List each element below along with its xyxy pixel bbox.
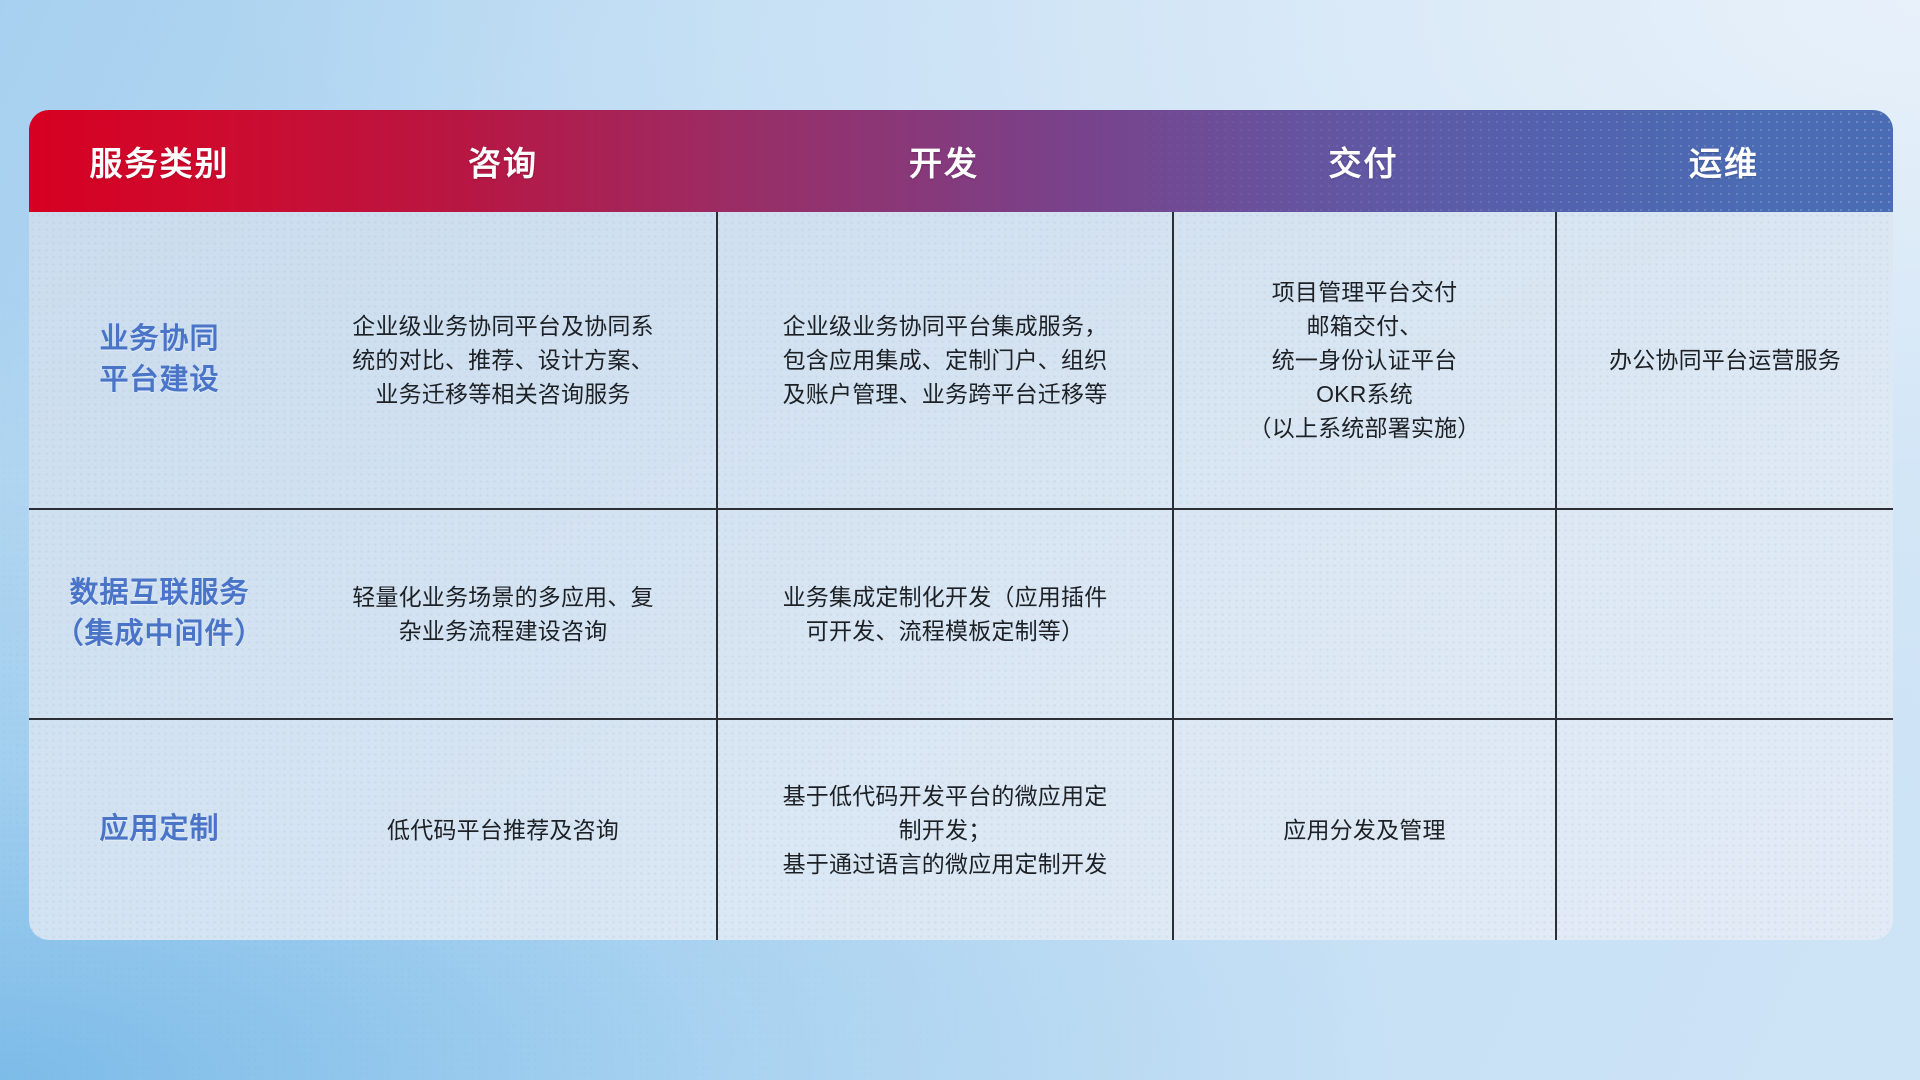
text-line: 邮箱交付、 <box>1249 309 1481 343</box>
cell-delivery <box>1172 510 1555 718</box>
category-line: （集成中间件） <box>54 614 264 655</box>
cell-operations <box>1555 720 1893 940</box>
text-line: 业务集成定制化开发（应用插件 <box>783 580 1108 614</box>
text-line: 企业级业务协同平台集成服务， <box>783 309 1108 343</box>
cell-operations: 办公协同平台运营服务 <box>1555 212 1893 508</box>
cell-delivery: 应用分发及管理 <box>1172 720 1555 940</box>
text-line: 企业级业务协同平台及协同系 <box>352 309 654 343</box>
row-category-label: 业务协同 平台建设 <box>99 319 219 401</box>
text-line: 应用分发及管理 <box>1283 813 1445 847</box>
service-matrix-table: 服务类别 咨询 开发 交付 运维 业务协同 平台建设 企业级业务协同平台及协同系… <box>29 110 1893 940</box>
cell-text: 办公协同平台运营服务 <box>1609 343 1841 377</box>
cell-text: 企业级业务协同平台集成服务， 包含应用集成、定制门户、组织 及账户管理、业务跨平… <box>783 309 1108 411</box>
cell-development: 基于低代码开发平台的微应用定 制开发； 基于通过语言的微应用定制开发 <box>716 720 1172 940</box>
text-line: 杂业务流程建设咨询 <box>352 614 654 648</box>
table-row: 数据互联服务 （集成中间件） 轻量化业务场景的多应用、复 杂业务流程建设咨询 业… <box>29 508 1893 718</box>
cell-consulting: 轻量化业务场景的多应用、复 杂业务流程建设咨询 <box>290 510 716 718</box>
text-line: 基于低代码开发平台的微应用定 <box>783 779 1108 813</box>
cell-delivery: 项目管理平台交付 邮箱交付、 统一身份认证平台 OKR系统 （以上系统部署实施） <box>1172 212 1555 508</box>
row-category-cell: 数据互联服务 （集成中间件） <box>29 510 290 718</box>
column-header-delivery: 交付 <box>1172 137 1555 185</box>
cell-text: 应用分发及管理 <box>1283 813 1445 847</box>
cell-development: 业务集成定制化开发（应用插件 可开发、流程模板定制等） <box>716 510 1172 718</box>
text-line: 项目管理平台交付 <box>1249 275 1481 309</box>
category-line: 数据互联服务 <box>54 573 264 614</box>
text-line: 可开发、流程模板定制等） <box>783 614 1108 648</box>
category-line: 平台建设 <box>99 360 219 401</box>
row-category-label: 数据互联服务 （集成中间件） <box>54 573 264 655</box>
text-line: 办公协同平台运营服务 <box>1609 343 1841 377</box>
table-row: 业务协同 平台建设 企业级业务协同平台及协同系 统的对比、推荐、设计方案、 业务… <box>29 212 1893 508</box>
cell-text: 项目管理平台交付 邮箱交付、 统一身份认证平台 OKR系统 （以上系统部署实施） <box>1249 275 1481 445</box>
column-header-consulting: 咨询 <box>290 137 716 185</box>
category-line: 业务协同 <box>99 319 219 360</box>
table-row: 应用定制 低代码平台推荐及咨询 基于低代码开发平台的微应用定 制开发； 基于通过… <box>29 718 1893 940</box>
column-header-operations: 运维 <box>1555 137 1893 185</box>
text-line: 统一身份认证平台 <box>1249 343 1481 377</box>
text-line: 及账户管理、业务跨平台迁移等 <box>783 377 1108 411</box>
row-category-cell: 业务协同 平台建设 <box>29 212 290 508</box>
text-line: 轻量化业务场景的多应用、复 <box>352 580 654 614</box>
cell-text: 低代码平台推荐及咨询 <box>387 813 619 847</box>
text-line: 低代码平台推荐及咨询 <box>387 813 619 847</box>
cell-text: 企业级业务协同平台及协同系 统的对比、推荐、设计方案、 业务迁移等相关咨询服务 <box>352 309 654 411</box>
text-line: 制开发； <box>783 813 1108 847</box>
cell-text: 基于低代码开发平台的微应用定 制开发； 基于通过语言的微应用定制开发 <box>783 779 1108 881</box>
table-body: 业务协同 平台建设 企业级业务协同平台及协同系 统的对比、推荐、设计方案、 业务… <box>29 212 1893 940</box>
category-line: 应用定制 <box>99 809 219 850</box>
column-header-development: 开发 <box>716 137 1172 185</box>
column-header-category: 服务类别 <box>29 137 290 185</box>
text-line: 包含应用集成、定制门户、组织 <box>783 343 1108 377</box>
cell-operations <box>1555 510 1893 718</box>
row-category-label: 应用定制 <box>99 809 219 850</box>
row-category-cell: 应用定制 <box>29 720 290 940</box>
cell-consulting: 企业级业务协同平台及协同系 统的对比、推荐、设计方案、 业务迁移等相关咨询服务 <box>290 212 716 508</box>
cell-text: 轻量化业务场景的多应用、复 杂业务流程建设咨询 <box>352 580 654 648</box>
text-line: 基于通过语言的微应用定制开发 <box>783 847 1108 881</box>
table-header-row: 服务类别 咨询 开发 交付 运维 <box>29 110 1893 212</box>
text-line: （以上系统部署实施） <box>1249 411 1481 445</box>
text-line: 统的对比、推荐、设计方案、 <box>352 343 654 377</box>
cell-text: 业务集成定制化开发（应用插件 可开发、流程模板定制等） <box>783 580 1108 648</box>
text-line: OKR系统 <box>1249 377 1481 411</box>
cell-consulting: 低代码平台推荐及咨询 <box>290 720 716 940</box>
text-line: 业务迁移等相关咨询服务 <box>352 377 654 411</box>
cell-development: 企业级业务协同平台集成服务， 包含应用集成、定制门户、组织 及账户管理、业务跨平… <box>716 212 1172 508</box>
